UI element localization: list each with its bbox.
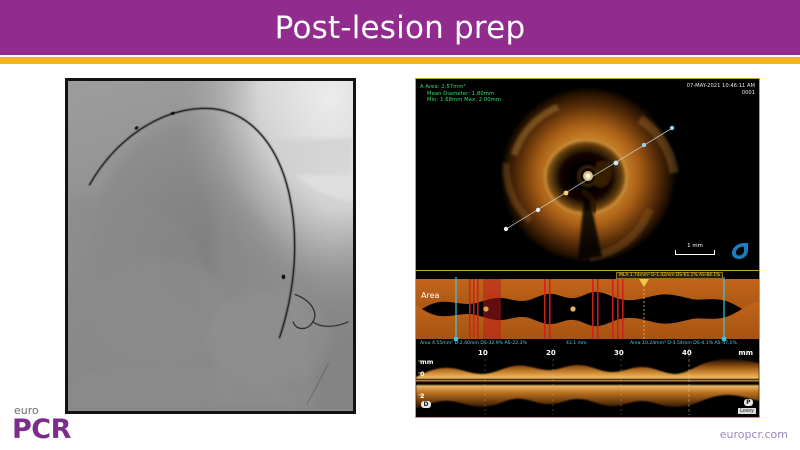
oct-timestamp-block: 07-MAY-2021 10:46:11 AM 0001 — [687, 83, 755, 97]
lmode-tick-10: 10 — [478, 349, 488, 357]
oct-min-max-measurement: Min: 1.68mm Max: 2.00mm — [427, 97, 501, 104]
lmode-distal-marker[interactable]: D — [421, 401, 431, 408]
oct-lmode-panel[interactable]: 10 20 30 40 mm mm 0 2 D P Lossy — [416, 347, 759, 417]
oct-area-measurement: A Area: 2.57mm² — [420, 84, 466, 91]
title-underline-rule — [0, 57, 800, 64]
lmode-axis-unit: mm — [420, 358, 434, 366]
oct-cross-section-view[interactable]: A Area: 2.57mm² Mean Diameter: 1.80mm Mi… — [416, 79, 759, 269]
lmode-tick-40: 40 — [682, 349, 692, 357]
lmode-tick-20: 20 — [546, 349, 556, 357]
lmode-axis-zero: 0 — [420, 370, 425, 378]
oct-lumen-profile-canvas — [416, 271, 759, 347]
lmode-compression-badge: Lossy — [738, 408, 756, 414]
lmode-tick-30: 30 — [614, 349, 624, 357]
oct-mean-diameter-measurement: Mean Diameter: 1.80mm — [427, 91, 494, 98]
angiography-canvas — [68, 81, 353, 410]
oct-scale-label: 1 mm — [675, 243, 715, 249]
oct-lmode-canvas — [416, 347, 759, 417]
oct-scale-bar: 1 mm — [675, 243, 715, 255]
page-title: Post-lesion prep — [275, 10, 526, 46]
abbott-logo-icon — [728, 239, 754, 261]
lmode-proximal-marker[interactable]: P — [744, 399, 753, 406]
angiography-image-panel — [65, 78, 356, 414]
oct-cross-section-canvas — [416, 79, 759, 269]
abbott-logo-glyph — [728, 239, 754, 261]
slide-title-banner: Post-lesion prep — [0, 0, 800, 55]
oct-proximal-reference-annotation: Area 10.24mm² D-3.54mm DS-4.1% AS-47.1% — [630, 341, 737, 346]
oct-mla-annotation: MLA 1.74mm² D-1.42mm DS-61.1% AS-84.1% — [616, 272, 723, 279]
oct-area-panel-label: Area — [421, 291, 439, 300]
lmode-unit-label: mm — [738, 349, 753, 357]
website-url: europcr.com — [720, 428, 788, 441]
europcr-logo-bottom: PCR — [12, 414, 71, 445]
oct-distal-reference-annotation: Area 4.55mm² D-2.40mm DS-32.9% AS-22.3% — [420, 341, 527, 346]
oct-scale-bar-line — [675, 250, 715, 255]
oct-lumen-profile-panel[interactable]: Area MLA 1.74mm² D-1.42mm DS-61.1% AS-84… — [416, 270, 759, 348]
oct-console-panel: A Area: 2.57mm² Mean Diameter: 1.80mm Mi… — [415, 78, 760, 418]
lmode-axis-two: 2 — [420, 392, 425, 400]
oct-timestamp: 07-MAY-2021 10:46:11 AM — [687, 83, 755, 90]
oct-frame-number: 0001 — [687, 90, 755, 97]
oct-segment-length-annotation: 43.1 mm — [566, 341, 587, 346]
